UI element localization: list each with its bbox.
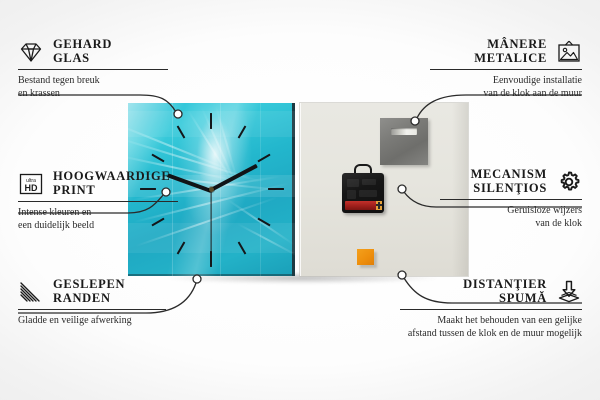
leader-dot-geslepen-randen <box>193 275 201 283</box>
callout-title: HOOGWAARDIGE PRINT <box>53 170 170 197</box>
callout-rule <box>18 309 166 310</box>
diamond-icon <box>18 39 44 65</box>
callout-geslepen-randen: GESLEPEN RANDEN Gladde en veilige afwerk… <box>18 278 166 328</box>
callout-title: MÂNERE METALICE <box>430 38 547 65</box>
callout-rule <box>18 201 178 202</box>
callout-rule <box>400 309 582 310</box>
svg-text:HD: HD <box>25 183 38 193</box>
leader-dot-gehard-glas <box>174 110 182 118</box>
ultra-hd-icon: ultra HD <box>18 171 44 197</box>
callout-description: Gladde en veilige afwerking <box>18 315 166 328</box>
callout-description: Geruisloze wijzers van de klok <box>440 205 582 230</box>
arrow-down-pad-icon <box>556 279 582 305</box>
gear-icon <box>556 169 582 195</box>
callout-description: Bestand tegen breuk en krassen <box>18 75 168 100</box>
infographic-canvas: GEHARD GLAS Bestand tegen breuk en krass… <box>0 0 600 400</box>
callout-rule <box>430 69 582 70</box>
callout-title: GEHARD GLAS <box>53 38 112 65</box>
callout-title: DISTANŢIER SPUMĂ <box>400 278 547 305</box>
leader-dot-mecanism-silentios <box>398 185 406 193</box>
callout-rule <box>440 199 582 200</box>
callout-gehard-glas: GEHARD GLAS Bestand tegen breuk en krass… <box>18 38 168 100</box>
callout-manere-metalice: MÂNERE METALICE Eenvoudige installatie v… <box>430 38 582 100</box>
callout-rule <box>18 69 168 70</box>
callout-description: Intense kleuren en een duidelijk beeld <box>18 207 178 232</box>
callout-title: MECANISM SILENŢIOS <box>440 168 547 195</box>
picture-frame-icon <box>556 39 582 65</box>
callout-description: Eenvoudige installatie van de klok aan d… <box>430 75 582 100</box>
callout-hoogwaardige-print: ultra HD HOOGWAARDIGE PRINT Intense kleu… <box>18 170 178 232</box>
callout-title: GESLEPEN RANDEN <box>53 278 125 305</box>
callout-mecanism-silentios: MECANISM SILENŢIOS Geruisloze wijzers va… <box>440 168 582 230</box>
callout-distantier-spuma: DISTANŢIER SPUMĂ Maakt het behouden van … <box>400 278 582 340</box>
callout-description: Maakt het behouden van een gelijke afsta… <box>400 315 582 340</box>
leader-dot-manere-metalice <box>411 117 419 125</box>
bevel-lines-icon <box>18 279 44 305</box>
